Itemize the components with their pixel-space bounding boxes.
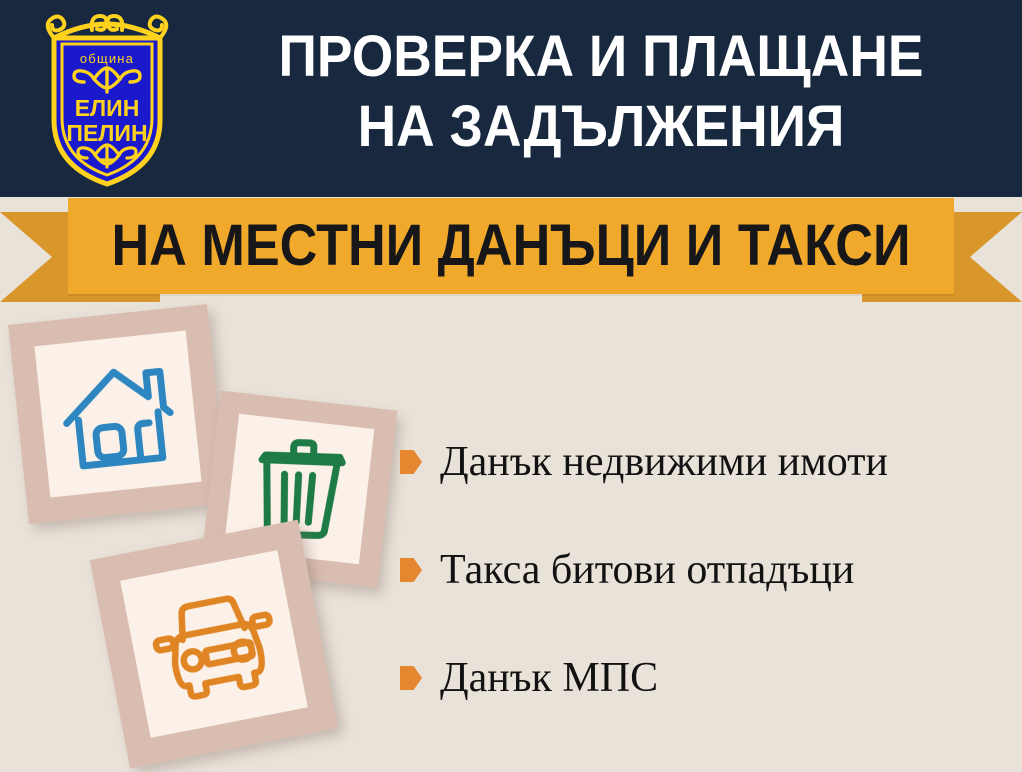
list-item-label: Данък недвижими имоти: [440, 441, 888, 483]
stamp-card-house: [8, 304, 228, 524]
arrow-bullet-icon: [400, 666, 422, 690]
logo-text-elin: ЕЛИН: [75, 95, 140, 121]
page-title: ПРОВЕРКА И ПЛАЩАНЕ НА ЗАДЪЛЖЕНИЯ: [228, 14, 973, 156]
stamp-scallop-border-house: [8, 304, 228, 524]
tax-type-list: Данък недвижими имоти Такса битови отпад…: [400, 420, 1020, 720]
list-item-label: Данък МПС: [440, 657, 658, 699]
stamp-scallop-border-car: [90, 520, 339, 769]
poster-canvas: община ЕЛИН ПЕЛИН: [0, 0, 1022, 772]
subtitle-ribbon: НА МЕСТНИ ДАНЪЦИ И ТАКСИ: [0, 198, 1022, 306]
list-item: Данък МПС: [400, 650, 658, 706]
page-title-line2: НА ЗАДЪЛЖЕНИЯ: [228, 86, 973, 156]
arrow-bullet-icon: [400, 450, 422, 474]
list-item: Данък недвижими имоти: [400, 434, 888, 490]
arrow-bullet-icon: [400, 558, 422, 582]
list-item: Такса битови отпадъци: [400, 542, 854, 598]
header-banner: община ЕЛИН ПЕЛИН: [0, 0, 1022, 197]
page-title-line1: ПРОВЕРКА И ПЛАЩАНЕ: [228, 14, 973, 86]
stamp-collage: [0, 300, 420, 772]
stamp-card-car: [90, 520, 339, 769]
municipality-logo: община ЕЛИН ПЕЛИН: [32, 8, 182, 190]
logo-text-obshtina: община: [80, 51, 134, 66]
ribbon-subtitle: НА МЕСТНИ ДАНЪЦИ И ТАКСИ: [112, 198, 909, 294]
logo-text-pelin: ПЕЛИН: [66, 120, 147, 146]
list-item-label: Такса битови отпадъци: [440, 549, 854, 591]
